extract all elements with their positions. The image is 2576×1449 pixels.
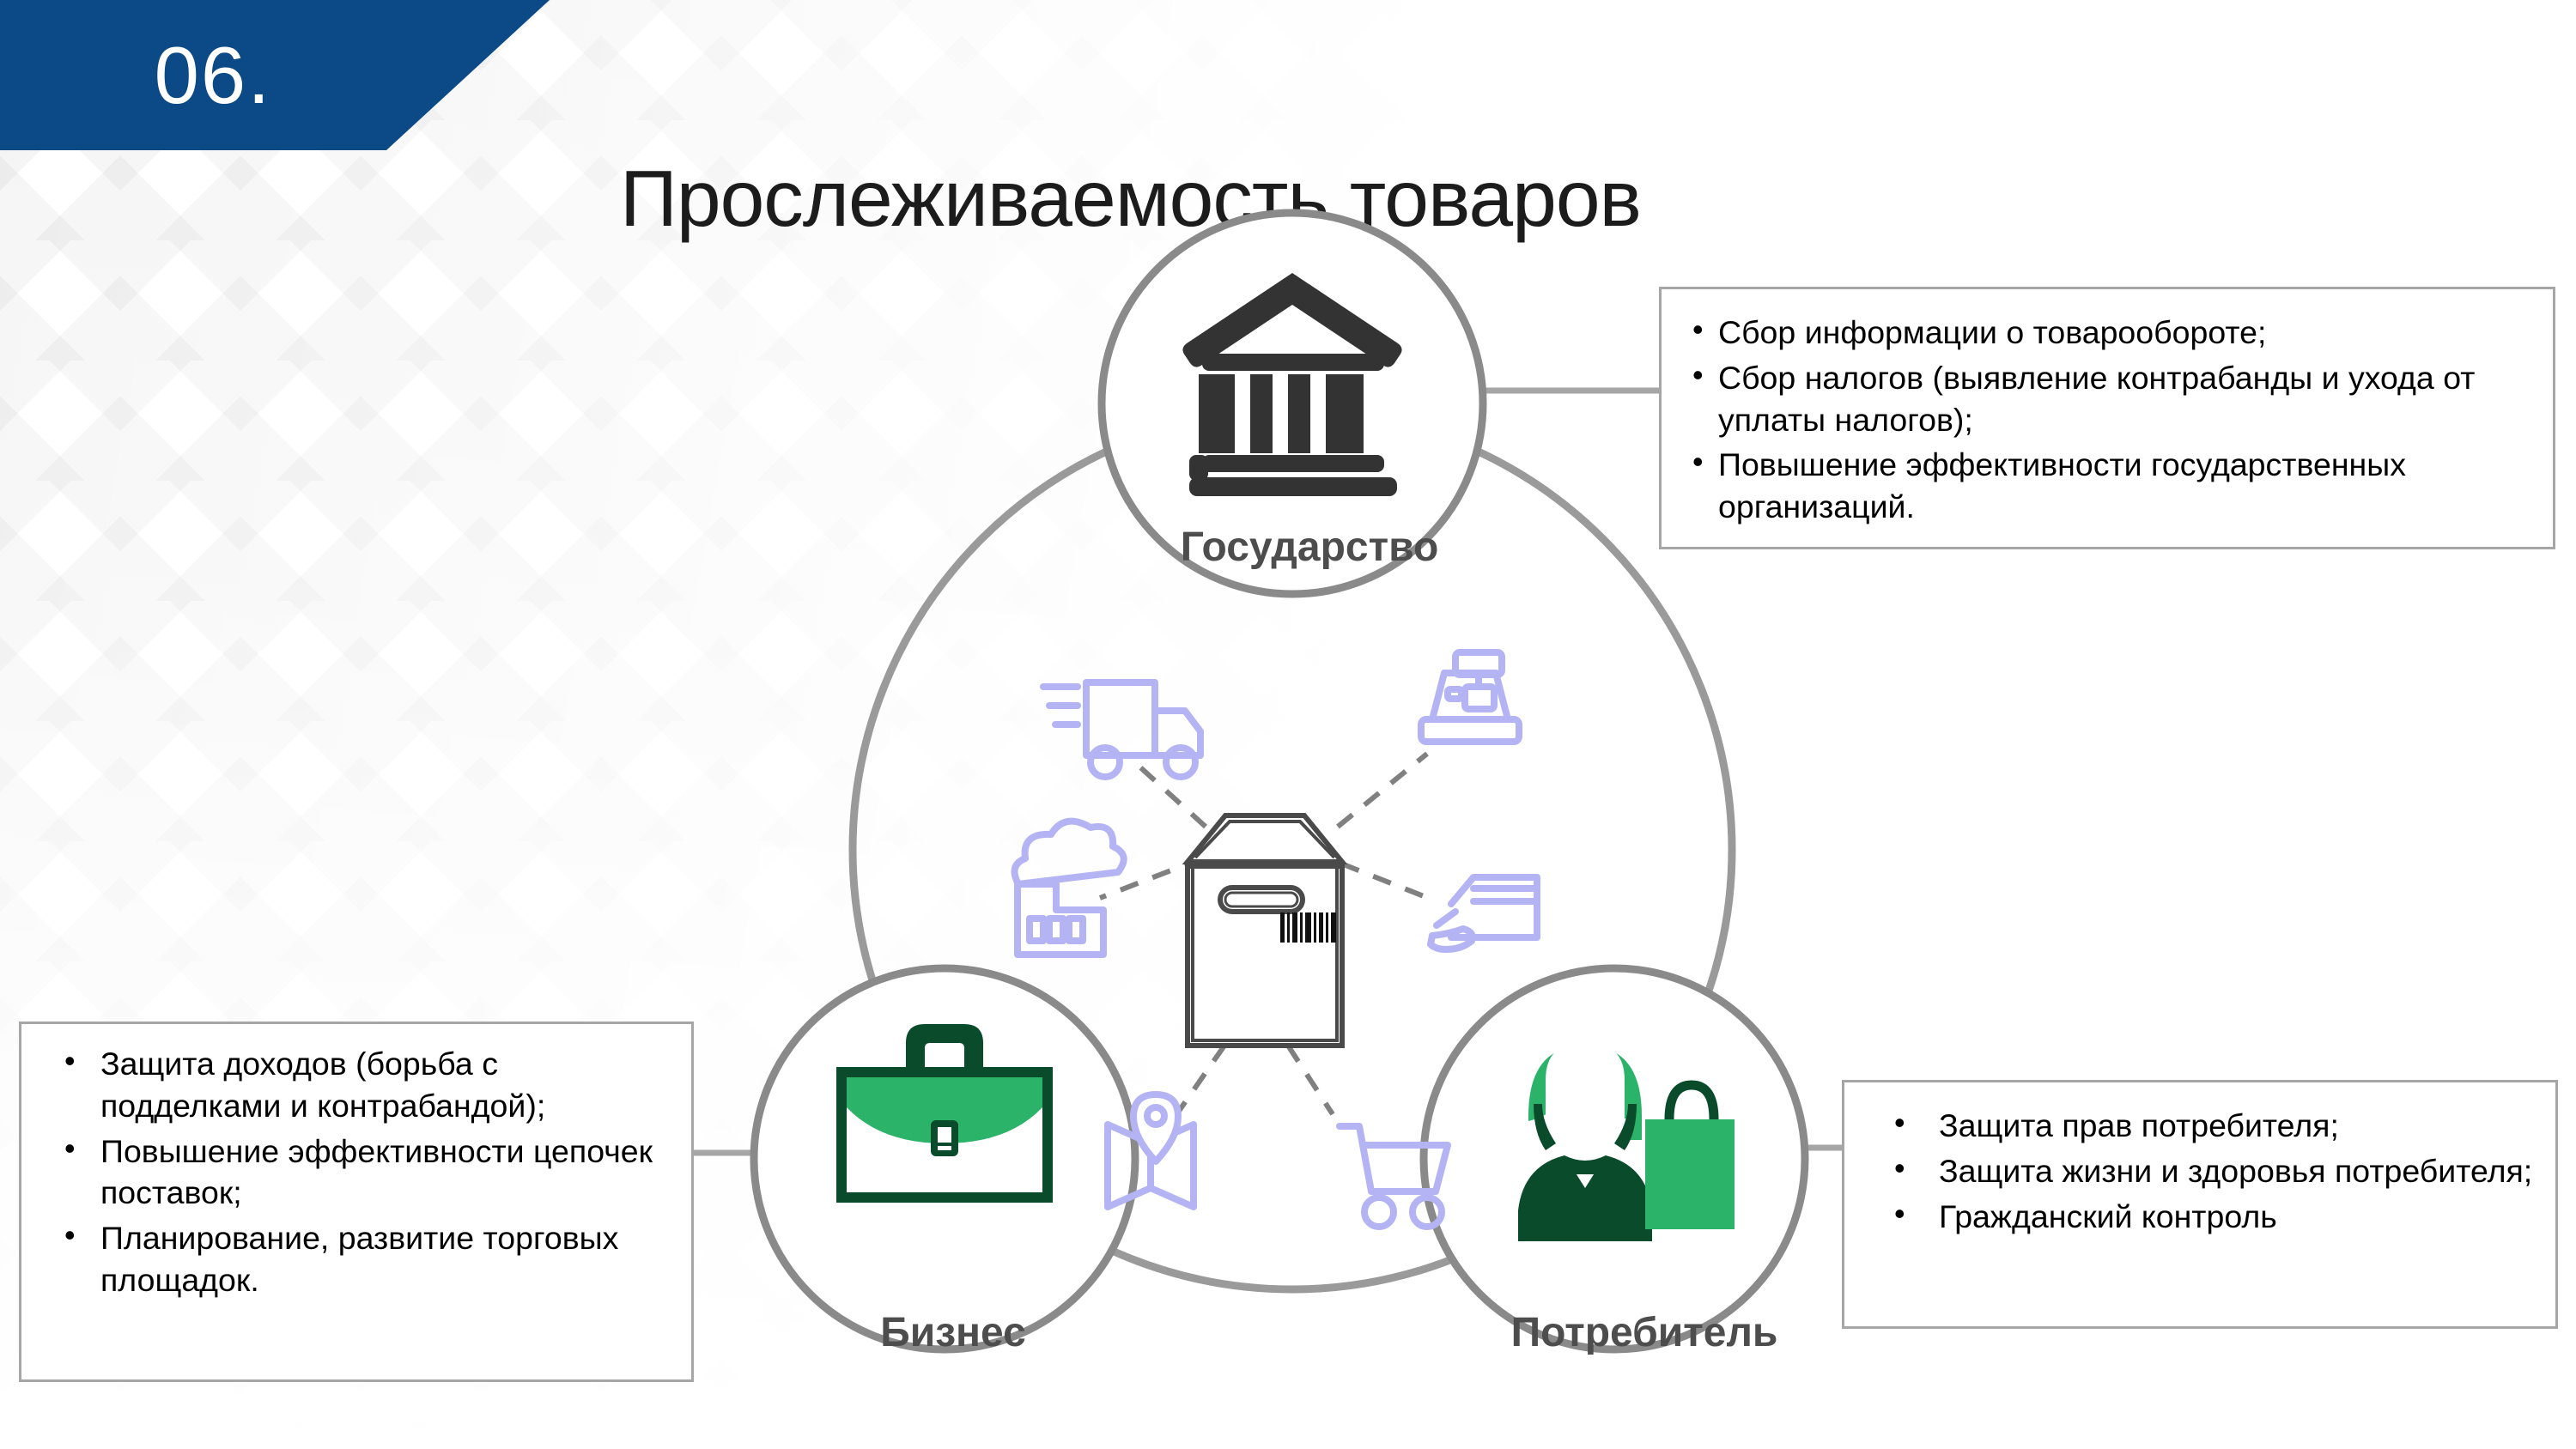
callout-box-business: Защита доходов (борьба с подделками и ко… xyxy=(19,1022,694,1382)
callout-list-government: Сбор информации о товарообороте; Сбор на… xyxy=(1662,289,2553,554)
node-label-biz: Бизнес xyxy=(773,1309,1133,1356)
list-item: Защита прав потребителя; xyxy=(1856,1105,2540,1147)
page-title: Прослеживаемость товаров xyxy=(620,153,1641,245)
list-item: Защита доходов (борьба с подделками и ко… xyxy=(33,1043,676,1127)
list-item: Повышение эффективности цепочек поставок… xyxy=(33,1131,676,1215)
callout-list-business: Защита доходов (борьба с подделками и ко… xyxy=(21,1024,691,1324)
callout-box-government: Сбор информации о товарообороте; Сбор на… xyxy=(1659,287,2555,549)
node-label-gov: Государство xyxy=(1129,524,1490,571)
slide-number: 06. xyxy=(155,29,272,122)
list-item: Сбор информации о товарообороте; xyxy=(1670,312,2534,354)
list-item: Гражданский контроль xyxy=(1856,1196,2540,1238)
callout-box-consumer: Защита прав потребителя; Защита жизни и … xyxy=(1842,1080,2558,1329)
list-item: Повышение эффективности государственных … xyxy=(1670,444,2534,528)
list-item: Защита жизни и здоровья потребителя; xyxy=(1856,1150,2540,1192)
node-label-cons: Потребитель xyxy=(1447,1309,1842,1356)
list-item: Сбор налогов (выявление контрабанды и ух… xyxy=(1670,357,2534,441)
slide-canvas: 06. Прослеживаемость товаров xyxy=(0,0,2576,1449)
list-item: Планирование, развитие торговых площадок… xyxy=(33,1217,676,1301)
callout-list-consumer: Защита прав потребителя; Защита жизни и … xyxy=(1844,1082,2555,1263)
